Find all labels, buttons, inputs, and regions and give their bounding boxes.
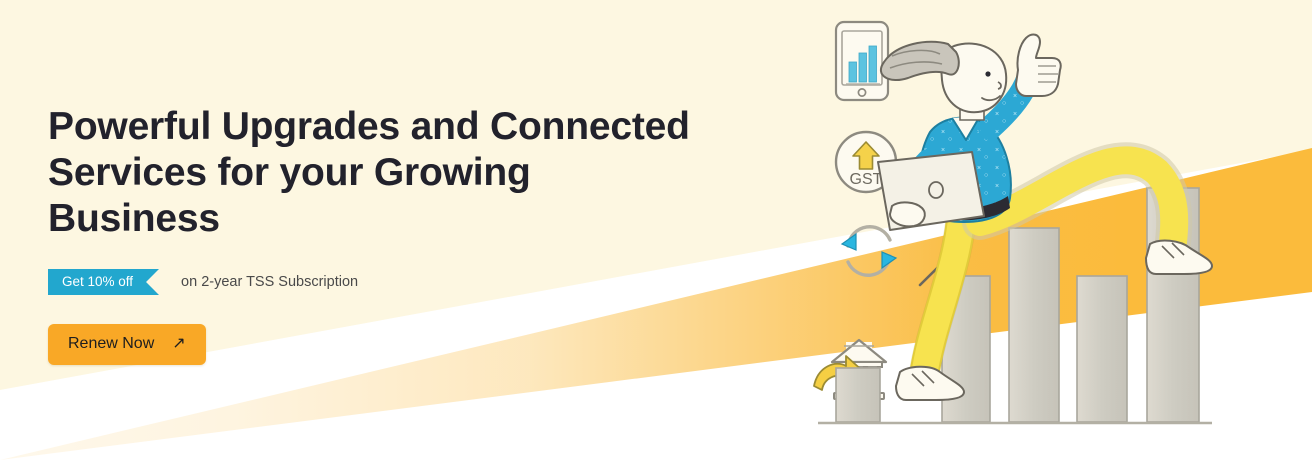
discount-badge-label: Get 10% off (62, 275, 133, 289)
mobile-chart-icon (836, 22, 888, 100)
discount-badge: Get 10% off (48, 269, 159, 295)
feature-icon-column: GST (814, 22, 896, 399)
page-title: Powerful Upgrades and Connected Services… (48, 104, 708, 242)
renew-now-button[interactable]: Renew Now ↗ (48, 324, 206, 365)
external-link-arrow-icon: ↗ (172, 336, 185, 352)
promo-banner: Powerful Upgrades and Connected Services… (0, 0, 1312, 460)
thumbs-up-hand (1016, 35, 1061, 96)
renew-now-label: Renew Now (68, 335, 154, 353)
shoe-front (1146, 241, 1212, 274)
offer-note: on 2-year TSS Subscription (181, 274, 358, 290)
banner-content: Powerful Upgrades and Connected Services… (48, 104, 748, 365)
hero-illustration: × ○ (812, 0, 1312, 460)
sync-arrows-icon (842, 227, 896, 275)
offer-row: Get 10% off on 2-year TSS Subscription (48, 268, 748, 296)
gst-label: GST (850, 171, 883, 188)
